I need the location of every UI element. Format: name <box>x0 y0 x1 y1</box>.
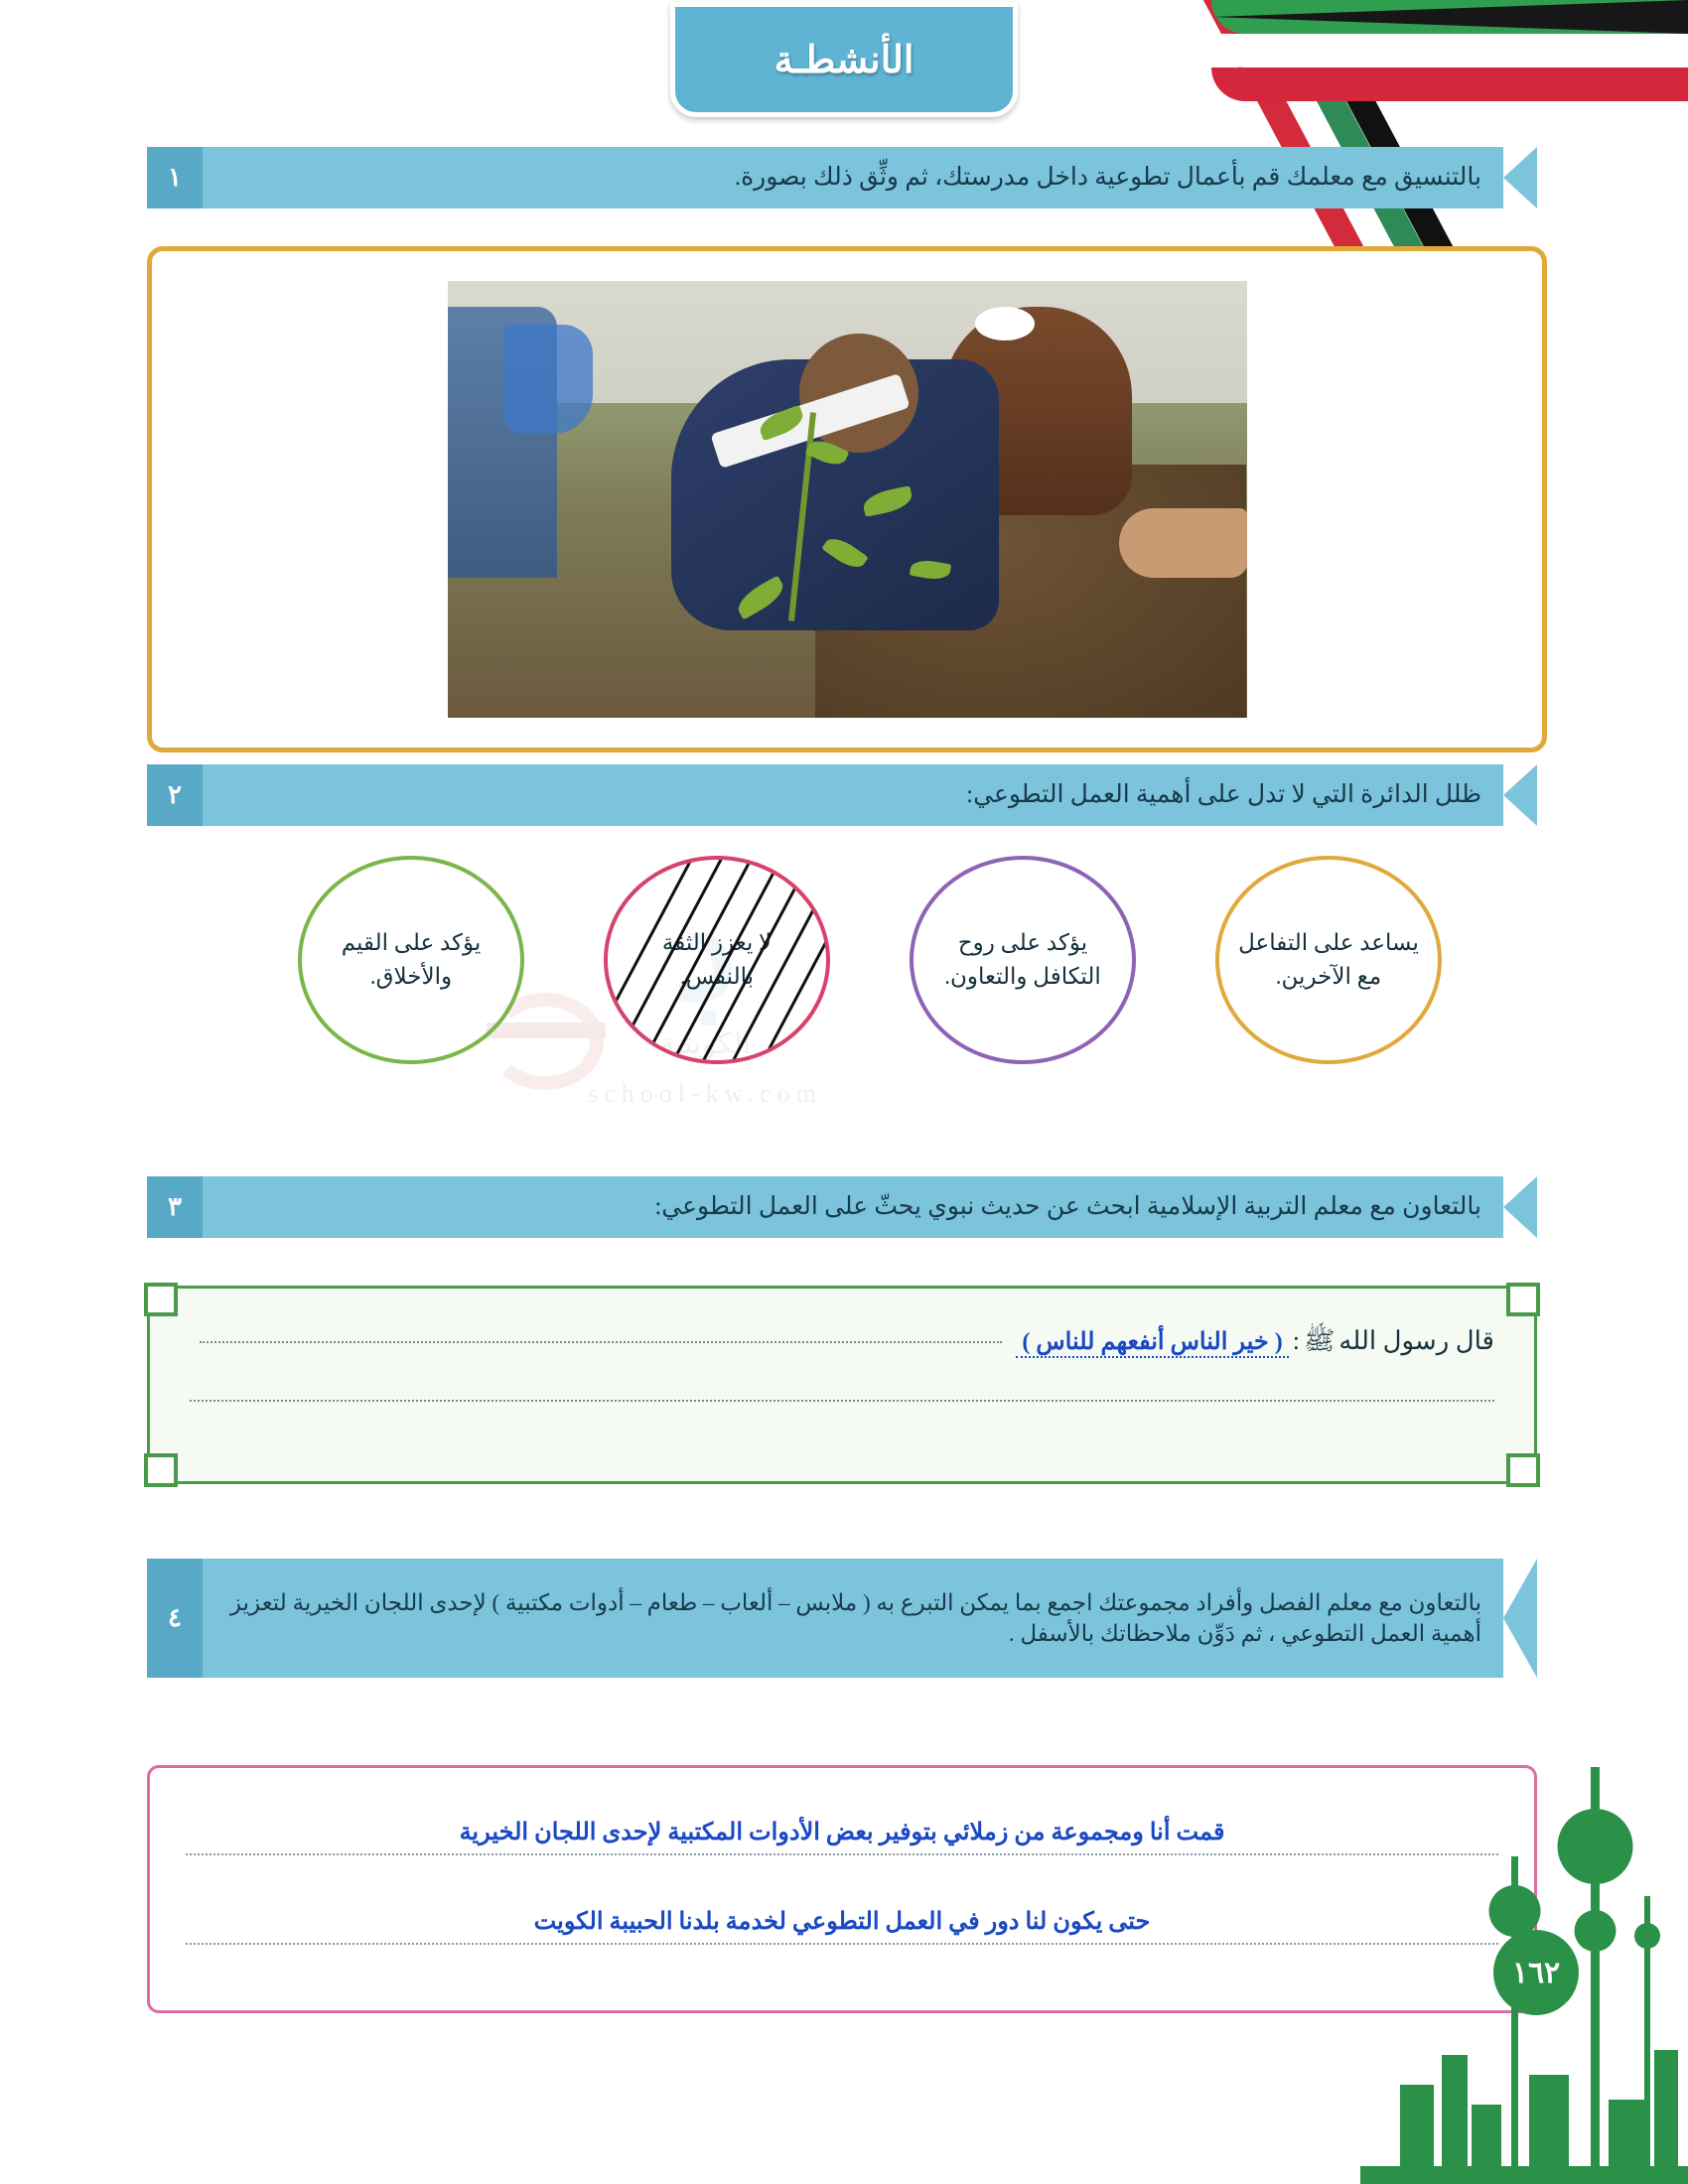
question-1-number: ١ <box>147 147 203 208</box>
ribbon-green <box>1248 0 1625 258</box>
hadith-line-2-rule <box>190 1400 1494 1402</box>
notes-line-1-text: قمت أنا ومجموعة من زملائي بتوفير بعض الأ… <box>150 1818 1534 1846</box>
question-4-text: بالتعاون مع معلم الفصل وأفراد مجموعتك اج… <box>203 1559 1503 1678</box>
volunteering-photo <box>448 281 1247 718</box>
flag-band-black <box>1211 0 1688 34</box>
question-3-text: بالتعاون مع معلم التربية الإسلامية ابحث … <box>203 1176 1503 1238</box>
ribbon-red <box>1189 0 1566 258</box>
hadith-answer-box[interactable]: قال رسول الله ﷺ : ( خير الناس أنفعهم للن… <box>147 1286 1537 1484</box>
option-ellipse-4[interactable]: يؤكد على القيم والأخلاق. <box>298 856 524 1064</box>
options-row: يساعد على التفاعل مع الآخرين. يؤكد على ر… <box>147 856 1537 1084</box>
question-2-arrow-icon <box>1503 764 1537 826</box>
option-4-label: يؤكد على القيم والأخلاق. <box>320 926 502 995</box>
hadith-line-1: قال رسول الله ﷺ : ( خير الناس أنفعهم للن… <box>190 1324 1494 1362</box>
corner-ornament <box>144 1453 178 1487</box>
kuwait-ribbon-decoration <box>1172 0 1688 258</box>
notes-line-2-rule <box>186 1943 1498 1945</box>
question-2-bar: ظلل الدائرة التي لا تدل على أهمية العمل … <box>147 764 1537 826</box>
flag-band-red <box>1211 68 1688 101</box>
page-number: ١٦٢ <box>1512 1956 1560 1990</box>
page-number-badge: ١٦٢ <box>1493 1930 1579 2015</box>
prophet-honorific-icon: ﷺ <box>1304 1324 1335 1362</box>
question-3-arrow-icon <box>1503 1176 1537 1238</box>
option-3-label: لا يعزز الثقة بالنفس. <box>626 926 808 995</box>
option-ellipse-3-selected[interactable]: لا يعزز الثقة بالنفس. <box>604 856 830 1064</box>
option-ellipse-2[interactable]: يؤكد على روح التكافل والتعاون. <box>910 856 1136 1064</box>
option-ellipse-1[interactable]: يساعد على التفاعل مع الآخرين. <box>1215 856 1442 1064</box>
ribbon-black <box>1278 0 1655 258</box>
hadith-answer-text: ( خير الناس أنفعهم للناس ) <box>1016 1327 1288 1358</box>
question-4-bar: بالتعاون مع معلم الفصل وأفراد مجموعتك اج… <box>147 1559 1537 1678</box>
hadith-colon: : <box>1293 1326 1300 1356</box>
photo-hand <box>1119 508 1247 578</box>
photo-frame <box>147 246 1547 752</box>
question-2-text: ظلل الدائرة التي لا تدل على أهمية العمل … <box>203 764 1503 826</box>
hadith-dotted-rule <box>200 1341 1002 1343</box>
question-4-number: ٤ <box>147 1559 203 1678</box>
hadith-prefix: قال رسول الله <box>1338 1326 1494 1356</box>
question-1-arrow-icon <box>1503 147 1537 208</box>
option-1-label: يساعد على التفاعل مع الآخرين. <box>1237 926 1420 995</box>
notes-answer-box[interactable]: قمت أنا ومجموعة من زملائي بتوفير بعض الأ… <box>147 1765 1537 2013</box>
question-3-bar: بالتعاون مع معلم التربية الإسلامية ابحث … <box>147 1176 1537 1238</box>
kuwait-flag-strip <box>1211 0 1688 119</box>
question-3-number: ٣ <box>147 1176 203 1238</box>
corner-ornament <box>1506 1283 1540 1316</box>
photo-blue-bag <box>503 325 593 434</box>
ribbon-white <box>1218 0 1596 258</box>
notes-line-2-text: حتى يكون لنا دور في العمل التطوعي لخدمة … <box>150 1907 1534 1936</box>
question-1-bar: بالتنسيق مع معلمك قم بأعمال تطوعية داخل … <box>147 147 1537 208</box>
flag-band-green <box>1211 0 1688 34</box>
question-4-arrow-icon <box>1503 1559 1537 1678</box>
page-title: الأنشطـة <box>774 38 914 82</box>
corner-ornament <box>144 1283 178 1316</box>
notes-line-1-rule <box>186 1853 1498 1855</box>
question-1-text: بالتنسيق مع معلمك قم بأعمال تطوعية داخل … <box>203 147 1503 208</box>
flag-band-white <box>1211 34 1688 68</box>
corner-ornament <box>1506 1453 1540 1487</box>
option-2-label: يؤكد على روح التكافل والتعاون. <box>931 926 1114 995</box>
question-2-number: ٢ <box>147 764 203 826</box>
page-title-pill: الأنشطـة <box>670 2 1018 117</box>
